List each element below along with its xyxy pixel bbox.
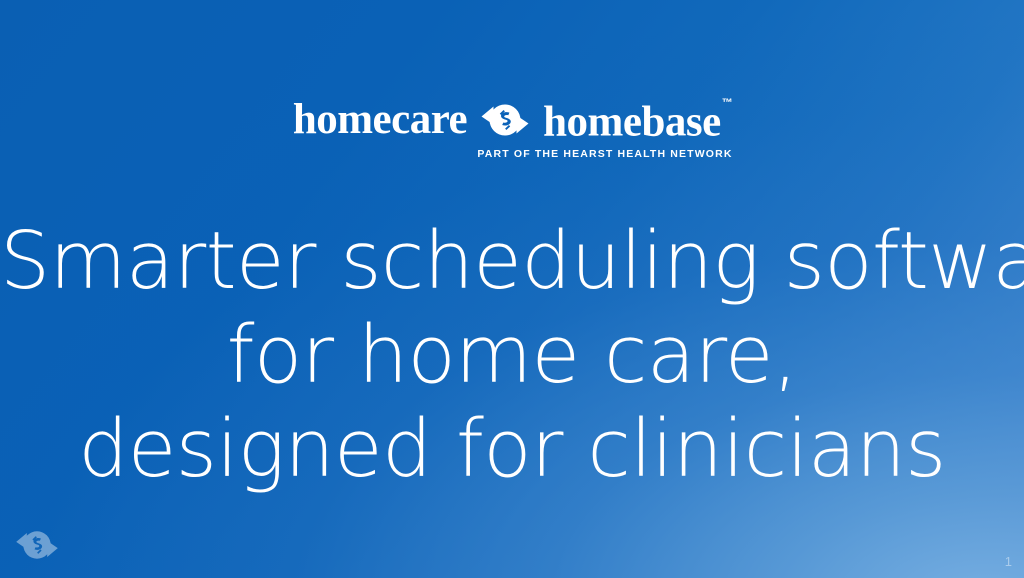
- logo-word-homecare: homecare: [293, 98, 479, 142]
- slide-number: 1: [1005, 554, 1012, 570]
- logo-tagline: PART OF THE HEARST HEALTH NETWORK: [0, 148, 1024, 160]
- cycle-swoosh-icon: [479, 99, 531, 141]
- logo-word-homebase-text: homebase: [543, 99, 721, 146]
- logo-wordmark-row: homecare homebase™: [0, 96, 1024, 144]
- brand-logo: homecare homebase™: [0, 96, 1024, 160]
- cycle-swoosh-icon: [14, 526, 60, 564]
- presentation-slide: homecare homebase™: [0, 0, 1024, 578]
- headline-line-1: Smarter scheduling software: [0, 214, 1024, 308]
- trademark-symbol: ™: [722, 97, 733, 109]
- headline-line-3: designed for clinicians: [0, 402, 1024, 496]
- logo-word-homebase: homebase™: [531, 95, 731, 144]
- slide-headline: Smarter scheduling software for home car…: [0, 214, 1024, 496]
- headline-line-2: for home care,: [0, 308, 1024, 402]
